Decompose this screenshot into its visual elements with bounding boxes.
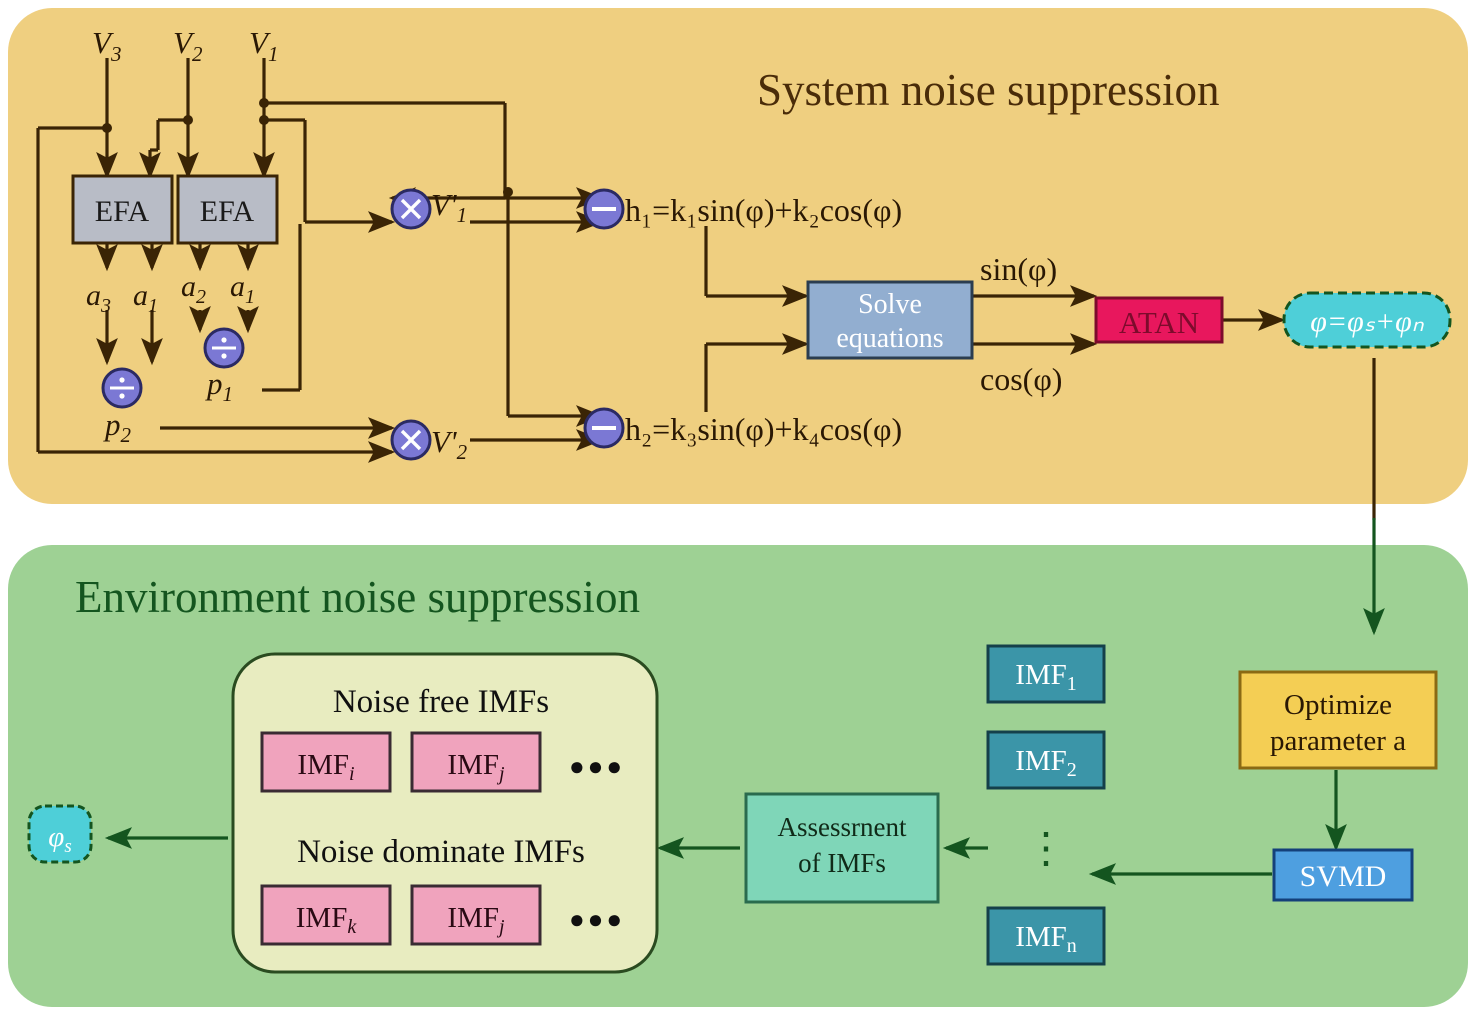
solve-label-line2: equations: [836, 323, 943, 354]
atan-label: ATAN: [1119, 305, 1199, 340]
imf-pink-label-j1: IMFj: [447, 749, 505, 785]
noise-dominate-title: Noise dominate IMFs: [297, 834, 585, 870]
minus-icon-h2: [585, 409, 623, 447]
diagram-canvas: System noise suppression Environment noi…: [0, 0, 1476, 1015]
optimize-label-line2: parameter a: [1270, 725, 1406, 757]
noise-free-title: Noise free IMFs: [333, 684, 549, 720]
imf-pink-label-j2: IMFj: [447, 902, 505, 938]
assessment-label-line1: Assessrnent: [778, 812, 907, 842]
vertical-ellipsis: ⋮: [1025, 826, 1067, 872]
equation-h1: h₁=k₁sin(φ)+k₂cos(φ): [625, 192, 902, 228]
trig-label-sin: sin(φ): [980, 251, 1057, 287]
system-panel-title: System noise suppression: [757, 65, 1220, 115]
optimize-label-line1: Optimize: [1284, 689, 1392, 721]
efa-label-1: EFA: [95, 195, 150, 228]
divide-icon-p2: [103, 369, 141, 407]
svmd-label: SVMD: [1300, 860, 1387, 893]
phi-result-label: φ=φₛ+φₙ: [1310, 305, 1424, 338]
imf-pink-label-i: IMFi: [297, 749, 354, 785]
minus-icon-h1: [585, 190, 623, 228]
multiply-icon-v1: [392, 190, 430, 228]
divide-icon-p1: [205, 329, 243, 367]
equation-h2: h₂=k₃sin(φ)+k₄cos(φ): [625, 411, 902, 447]
noise-free-ellipsis: ●●●: [569, 752, 625, 781]
environment-panel-title: Environment noise suppression: [75, 572, 640, 622]
assessment-label-line2: of IMFs: [798, 848, 886, 878]
efa-label-2: EFA: [200, 195, 255, 228]
trig-label-cos: cos(φ): [980, 361, 1062, 397]
noise-dominate-ellipsis: ●●●: [569, 905, 625, 934]
solve-label-line1: Solve: [858, 289, 922, 320]
multiply-icon-v2: [392, 421, 430, 459]
